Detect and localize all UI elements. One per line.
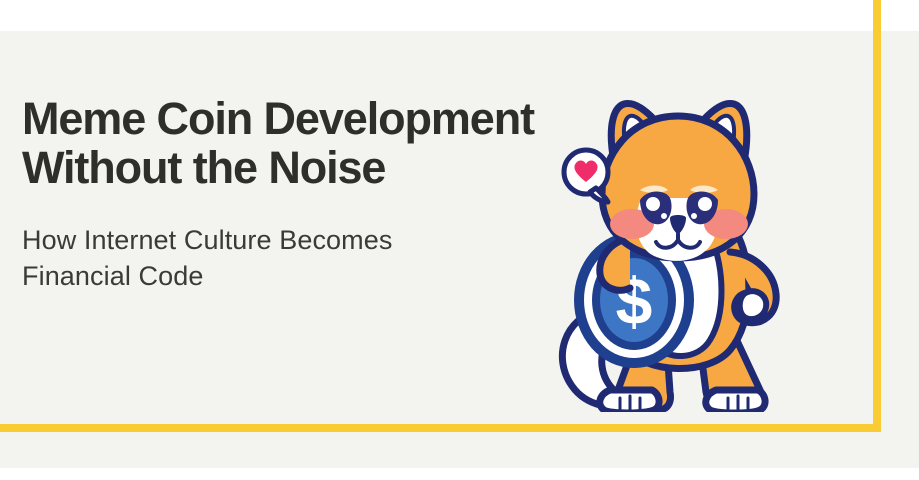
- shiba-inu-mascot-illustration: $: [548, 72, 808, 412]
- bottom-white-margin: [0, 468, 919, 480]
- yellow-vertical-rule: [873, 0, 881, 432]
- page-title: Meme Coin Development Without the Noise: [22, 94, 602, 192]
- slide-canvas: Meme Coin Development Without the Noise …: [0, 0, 919, 480]
- head-icon: [602, 103, 754, 260]
- page-subtitle: How Internet Culture Becomes Financial C…: [22, 222, 602, 294]
- text-block: Meme Coin Development Without the Noise …: [22, 94, 602, 294]
- heart-speech-bubble-icon: [564, 150, 608, 202]
- top-white-margin: [0, 0, 873, 31]
- yellow-horizontal-rule: [0, 424, 881, 432]
